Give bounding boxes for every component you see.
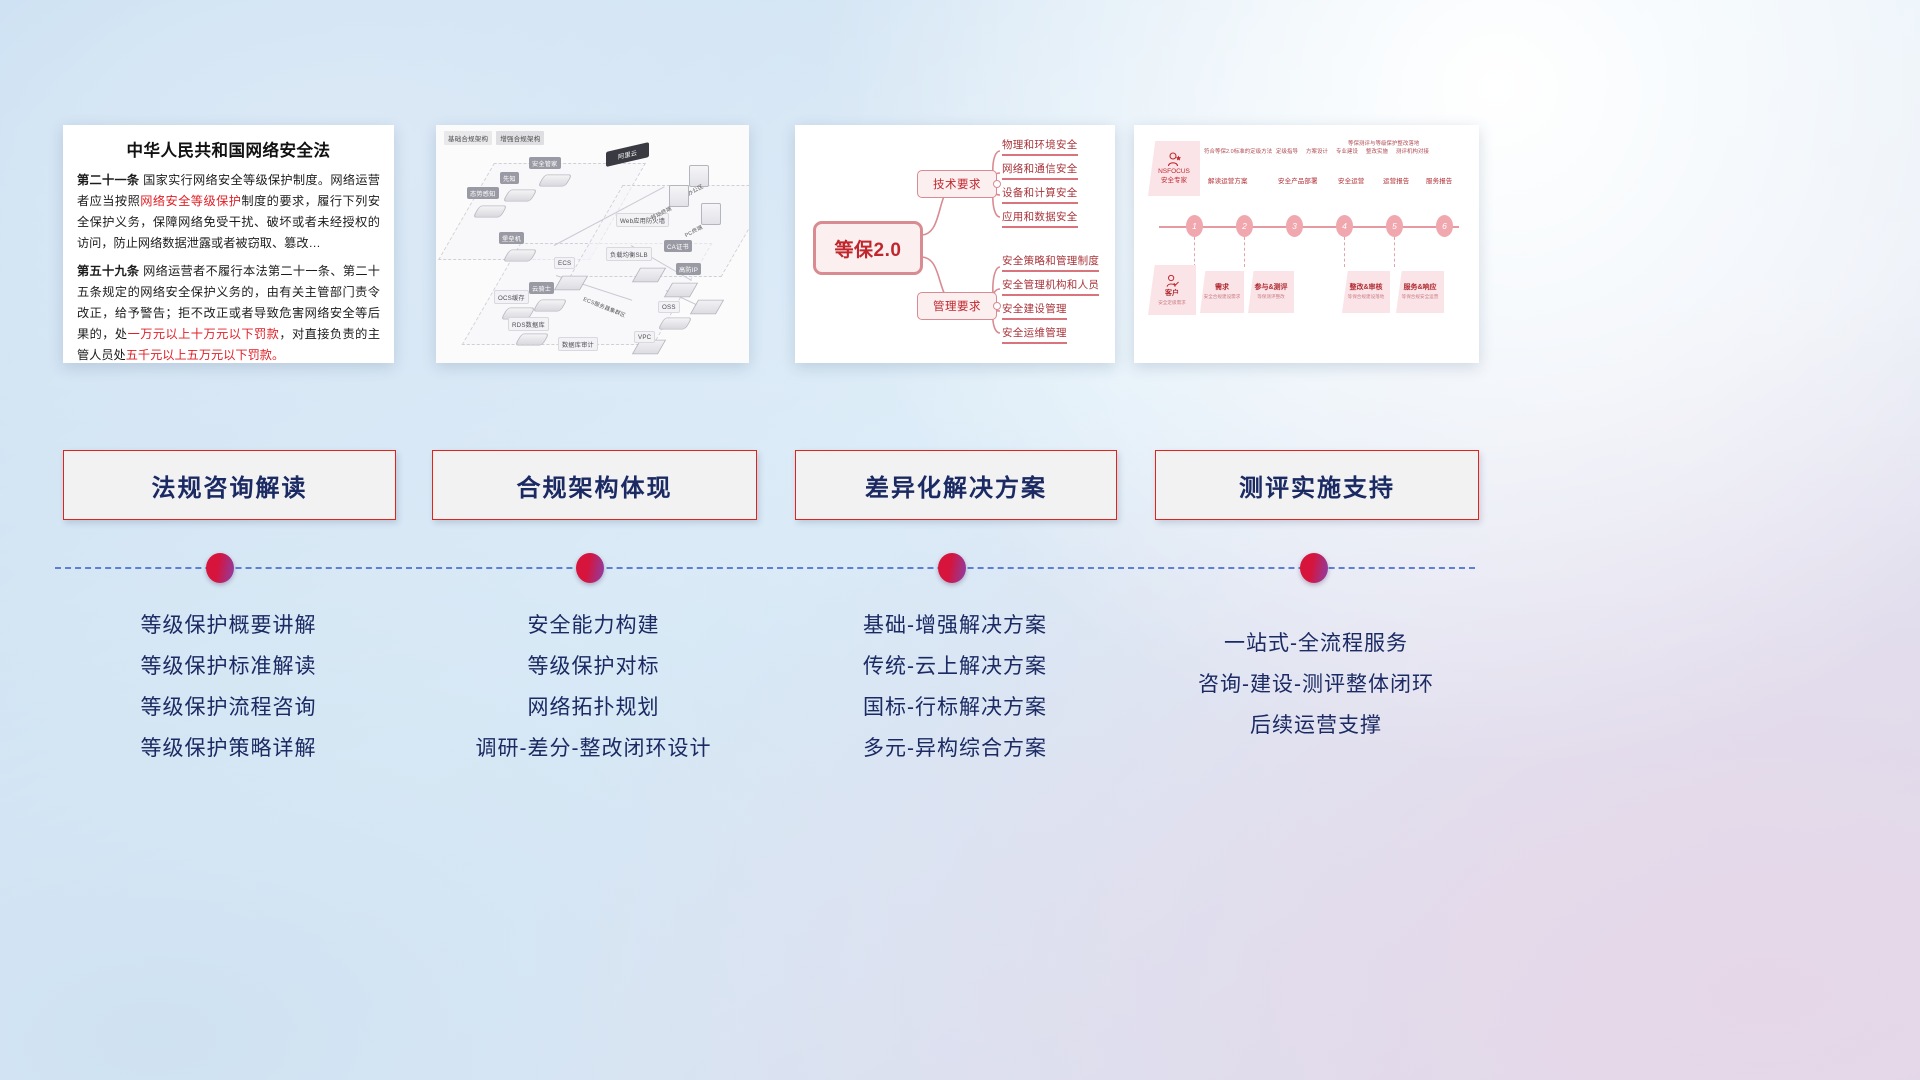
timeline-number-6[interactable]: 6 (1436, 215, 1453, 237)
mindmap-leaf-physical-env: 物理和环境安全 (1002, 137, 1078, 156)
timeline-axis (1159, 226, 1459, 228)
mindmap-leaf-construction-mgmt: 安全建设管理 (1002, 301, 1067, 320)
timeline-dash-3 (1344, 237, 1346, 267)
list-compliance-architecture: 安全能力构建 等级保护对标 网络拓扑规划 调研-差分-整改闭环设计 (432, 605, 755, 769)
list-item: 安全能力构建 (432, 605, 755, 646)
node-oss[interactable] (661, 315, 689, 332)
label-oss: OSS (658, 301, 680, 313)
architecture-canvas: 基础合规架构 增强合规架构 态势感知 先知 安全管家 (436, 125, 749, 363)
law-article-1: 第二十一条 国家实行网络安全等级保护制度。网络运营者应当按照网络安全等级保护制度… (77, 170, 380, 254)
mindmap-leaf-app-data: 应用和数据安全 (1002, 209, 1078, 228)
timeline-chip-0: 符合等保2.0标准的定级方法 (1204, 147, 1272, 155)
demand-title: 需求 (1215, 283, 1229, 292)
slide-canvas: 中华人民共和国网络安全法 第二十一条 国家实行网络安全等级保护制度。网络运营者应… (0, 0, 1920, 1080)
service-sub: 等保合规安全运营 (1402, 292, 1439, 301)
list-item: 等级保护对标 (432, 646, 755, 687)
node-ecs[interactable] (558, 273, 584, 293)
node-pc-terminal[interactable] (701, 203, 721, 225)
timeline-chip-2: 方案设计 (1306, 147, 1328, 155)
timeline-number-4[interactable]: 4 (1336, 215, 1353, 237)
list-regulation-consulting: 等级保护概要讲解 等级保护标准解读 等级保护流程咨询 等级保护策略详解 (63, 605, 394, 769)
timeline-stage-4: 服务报告 (1426, 175, 1452, 185)
label-db-audit: 数据库审计 (558, 337, 598, 351)
law-article-1-label: 第二十一条 (77, 173, 139, 187)
demand-sub: 安全合规建设需求 (1204, 292, 1241, 301)
label-bastion-host: 堡垒机 (499, 232, 524, 244)
card-mindmap[interactable]: 等保2.0 技术要求 物理和环境安全 网络和通信安全 设备和计算安全 应用和数据… (795, 125, 1115, 363)
list-item: 传统-云上解决方案 (795, 646, 1115, 687)
list-item: 国标-行标解决方案 (795, 687, 1115, 728)
timeline-stage-3: 运营报告 (1383, 175, 1409, 185)
label-security-butler: 安全管家 (529, 157, 561, 169)
node-cloud-knight[interactable] (536, 297, 564, 314)
heading-box-evaluation-support[interactable]: 测评实施支持 (1155, 450, 1479, 520)
list-item: 等级保护策略详解 (63, 728, 394, 769)
list-item: 咨询-建设-测评整体闭环 (1145, 664, 1487, 705)
label-vpc: VPC (634, 331, 655, 343)
label-ecs: ECS (554, 257, 575, 269)
card-row: 中华人民共和国网络安全法 第二十一条 国家实行网络安全等级保护制度。网络运营者应… (0, 125, 1920, 365)
heading-row: 法规咨询解读 合规架构体现 差异化解决方案 测评实施支持 (0, 450, 1920, 520)
timeline-card-rectify[interactable]: 整改&审核 等保合规建设落地 (1342, 271, 1390, 313)
rectify-title: 整改&审核 (1349, 283, 1382, 292)
card-service-timeline[interactable]: NSFOCUS 安全专家 符合等保2.0标准的定级方法 定级指导 方案设计 专业… (1134, 125, 1479, 363)
mindmap-leaf-org-personnel: 安全管理机构和人员 (1002, 277, 1099, 296)
label-xianzhi: 先知 (500, 172, 519, 184)
expert-person-icon (1166, 152, 1182, 167)
mindmap-branch-technical[interactable]: 技术要求 (917, 170, 997, 198)
law-article-1-part-1: 网络安全等级保护 (140, 194, 241, 208)
list-item: 等级保护流程咨询 (63, 687, 394, 728)
rectify-sub: 等保合规建设落地 (1348, 292, 1385, 301)
mindmap-leaf-device-compute: 设备和计算安全 (1002, 185, 1078, 204)
timeline-canvas: NSFOCUS 安全专家 符合等保2.0标准的定级方法 定级指导 方案设计 专业… (1134, 125, 1479, 363)
expert-badge[interactable]: NSFOCUS 安全专家 (1148, 141, 1200, 196)
list-item: 等级保护概要讲解 (63, 605, 394, 646)
architecture-tab-enhanced[interactable]: 增强合规架构 (496, 131, 544, 145)
timeline-number-1[interactable]: 1 (1186, 215, 1203, 237)
timeline-dash-4 (1394, 237, 1396, 267)
timeline-stage-1: 安全产品部署 (1278, 175, 1318, 185)
timeline-chip-1: 定级指导 (1276, 147, 1298, 155)
list-item: 后续运营支撑 (1145, 705, 1487, 746)
timeline-number-2[interactable]: 2 (1236, 215, 1253, 237)
label-situation-awareness: 态势感知 (467, 187, 499, 199)
mindmap-leaf-operation-mgmt: 安全运维管理 (1002, 325, 1067, 344)
rail-bullet-3[interactable] (938, 553, 966, 583)
service-title: 服务&响应 (1403, 283, 1436, 292)
heading-label-4: 测评实施支持 (1239, 468, 1395, 503)
card-architecture-diagram[interactable]: 基础合规架构 增强合规架构 态势感知 先知 安全管家 (436, 125, 749, 363)
list-item: 调研-差分-整改闭环设计 (432, 728, 755, 769)
heading-label-2: 合规架构体现 (517, 468, 673, 503)
label-ca-cert: CA证书 (664, 240, 692, 252)
label-ocs-cache: OCS缓存 (494, 290, 529, 304)
architecture-tab-basic[interactable]: 基础合规架构 (444, 131, 492, 145)
timeline-number-3[interactable]: 3 (1286, 215, 1303, 237)
law-article-2-part-3: 五千元以上五万元以下罚款。 (126, 348, 284, 362)
law-article-2: 第五十九条 网络运营者不履行本法第二十一条、第二十五条规定的网络安全保护义务的，… (77, 261, 380, 363)
timeline-stage-0: 解读运营方案 (1208, 175, 1248, 185)
mindmap-leaf-network-comm: 网络和通信安全 (1002, 161, 1078, 180)
law-title: 中华人民共和国网络安全法 (77, 137, 380, 161)
heading-box-compliance-architecture[interactable]: 合规架构体现 (432, 450, 757, 520)
participate-title: 参与&测评 (1254, 283, 1287, 292)
timeline-rail (55, 567, 1475, 569)
node-rds-database[interactable] (518, 331, 546, 348)
timeline-card-participate[interactable]: 参与&测评 等保测评整改 (1248, 271, 1294, 313)
timeline-chip-6: 等保测评与等级保护整改落地 (1348, 139, 1419, 147)
list-differentiated-solution: 基础-增强解决方案 传统-云上解决方案 国标-行标解决方案 多元-异构综合方案 (795, 605, 1115, 769)
expert-title: NSFOCUS (1158, 167, 1190, 176)
list-item: 一站式-全流程服务 (1145, 623, 1487, 664)
node-xianzhi[interactable] (506, 187, 534, 204)
node-ecs-cluster-a[interactable] (668, 280, 694, 300)
heading-box-regulation-consulting[interactable]: 法规咨询解读 (63, 450, 396, 520)
timeline-chip-5: 测评机构对接 (1396, 147, 1429, 155)
mindmap-canvas: 等保2.0 技术要求 物理和环境安全 网络和通信安全 设备和计算安全 应用和数据… (795, 125, 1115, 363)
timeline-chip-3: 专业建设 (1336, 147, 1358, 155)
customer-person-icon (1165, 274, 1179, 289)
law-body: 中华人民共和国网络安全法 第二十一条 国家实行网络安全等级保护制度。网络运营者应… (63, 125, 394, 363)
node-slb[interactable] (636, 265, 662, 285)
label-anti-ddos-ip: 高防IP (676, 263, 701, 275)
heading-label-1: 法规咨询解读 (152, 468, 308, 503)
node-situation-awareness[interactable] (476, 203, 504, 220)
architecture-tabs: 基础合规架构 增强合规架构 (444, 131, 544, 145)
timeline-number-5[interactable]: 5 (1386, 215, 1403, 237)
label-cloud-knight: 云骑士 (529, 282, 554, 294)
timeline-card-demand[interactable]: 需求 安全合规建设需求 (1200, 271, 1244, 313)
customer-sub: 安全定级需求 (1158, 298, 1186, 307)
card-law-document[interactable]: 中华人民共和国网络安全法 第二十一条 国家实行网络安全等级保护制度。网络运营者应… (63, 125, 394, 363)
customer-badge[interactable]: 客户 安全定级需求 (1148, 265, 1196, 315)
node-mobile-terminal[interactable] (669, 185, 689, 207)
mindmap-dot-technical[interactable] (993, 180, 1001, 188)
label-slb: 负载均衡SLB (606, 247, 652, 261)
rail-bullet-2[interactable] (576, 553, 604, 583)
law-article-2-part-1: 一万元以上十万元以下罚款 (128, 327, 280, 341)
participate-sub: 等保测评整改 (1257, 292, 1285, 301)
mindmap-leaf-policy-system: 安全策略和管理制度 (1002, 253, 1099, 272)
heading-box-differentiated-solution[interactable]: 差异化解决方案 (795, 450, 1117, 520)
list-item: 多元-异构综合方案 (795, 728, 1115, 769)
heading-label-3: 差异化解决方案 (865, 468, 1047, 503)
rail-bullet-1[interactable] (206, 553, 234, 583)
law-article-2-label: 第五十九条 (77, 264, 139, 278)
rail-bullet-4[interactable] (1300, 553, 1328, 583)
mindmap-branch-management[interactable]: 管理要求 (917, 292, 997, 320)
list-item: 基础-增强解决方案 (795, 605, 1115, 646)
mindmap-root[interactable]: 等保2.0 (813, 221, 923, 275)
node-security-butler[interactable] (541, 172, 569, 189)
expert-sub: 安全专家 (1161, 176, 1187, 185)
customer-title: 客户 (1165, 289, 1179, 298)
timeline-dash-1 (1194, 237, 1196, 267)
list-item: 网络拓扑规划 (432, 687, 755, 728)
node-ecs-cluster-b[interactable] (694, 297, 720, 317)
list-evaluation-support: 一站式-全流程服务 咨询-建设-测评整体闭环 后续运营支撑 (1145, 623, 1487, 746)
list-item: 等级保护标准解读 (63, 646, 394, 687)
node-bastion-host[interactable] (506, 247, 534, 264)
timeline-chip-4: 整改实施 (1366, 147, 1388, 155)
timeline-stage-2: 安全运营 (1338, 175, 1364, 185)
timeline-card-service[interactable]: 服务&响应 等保合规安全运营 (1396, 271, 1444, 313)
label-rds-database: RDS数据库 (508, 317, 549, 331)
timeline-dash-2 (1244, 237, 1246, 267)
mindmap-dot-management[interactable] (993, 302, 1001, 310)
